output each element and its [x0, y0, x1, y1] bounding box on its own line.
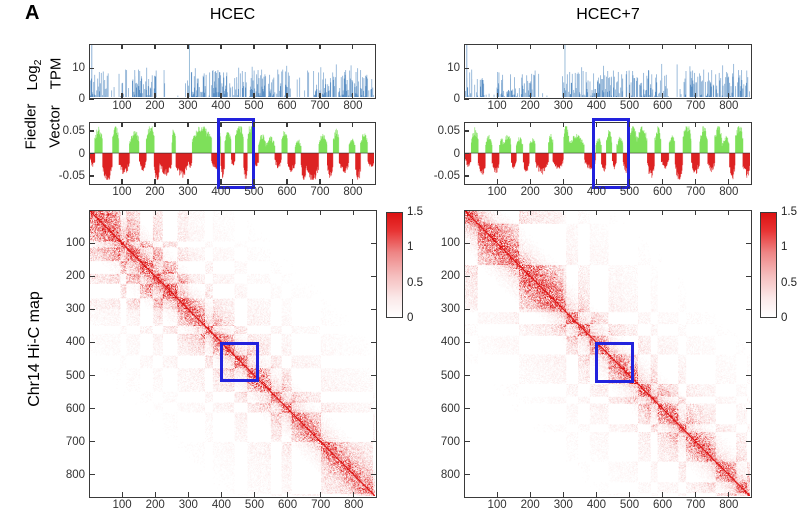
xtick-label-hic: 300	[179, 499, 198, 511]
xtick-label-fiedler: 300	[178, 186, 197, 198]
plot-fiedler-hcec7	[464, 122, 752, 185]
ytick-label-fiedler: -0.05	[420, 170, 460, 182]
ytick-label-hic: 400	[53, 336, 85, 348]
xtick-label-tpm: 200	[145, 100, 164, 112]
colorbar-hcec7	[760, 212, 777, 318]
xtick-label-fiedler: 300	[554, 186, 573, 198]
xtick-label-fiedler: 600	[277, 186, 296, 198]
row-label-vector: Vector	[47, 82, 64, 172]
plot-fiedler-hcec	[89, 122, 376, 185]
xtick-label-tpm: 100	[488, 100, 507, 112]
ytick-label-hic: 800	[428, 469, 460, 481]
xtick-label-tpm: 700	[310, 100, 329, 112]
ytick-label-hic: 800	[53, 469, 85, 481]
xtick-label-fiedler: 600	[653, 186, 672, 198]
xtick-label-tpm: 400	[211, 100, 230, 112]
colorbar-tick-label: 0	[407, 312, 413, 324]
xtick-label-fiedler: 500	[244, 186, 263, 198]
panel-letter-a: A	[25, 2, 39, 25]
ytick-label-hic: 600	[53, 403, 85, 415]
ytick-label-hic: 600	[428, 403, 460, 415]
xtick-label-hic: 100	[113, 499, 132, 511]
column-title-hcec: HCEC	[89, 6, 376, 24]
xtick-label-hic: 500	[245, 499, 264, 511]
xtick-label-fiedler: 800	[343, 186, 362, 198]
xtick-label-hic: 200	[146, 499, 165, 511]
colorbar-tick-label: 0.5	[781, 277, 797, 289]
plot-hic-hcec	[89, 210, 377, 498]
xtick-label-hic: 700	[311, 499, 330, 511]
ytick-label-hic: 500	[428, 370, 460, 382]
colorbar-hcec	[386, 212, 403, 318]
colorbar-tick-label: 1.5	[407, 206, 423, 218]
xtick-label-hic: 400	[587, 499, 606, 511]
xtick-label-tpm: 600	[277, 100, 296, 112]
ytick-label-fiedler: 0	[420, 148, 460, 160]
colorbar-tick-label: 1	[781, 241, 787, 253]
xtick-label-fiedler: 100	[112, 186, 131, 198]
ytick-label-tpm: 0	[432, 93, 460, 105]
xtick-label-fiedler: 100	[488, 186, 507, 198]
xtick-label-hic: 800	[719, 499, 738, 511]
xtick-label-fiedler: 700	[686, 186, 705, 198]
ytick-label-hic: 300	[53, 303, 85, 315]
xtick-label-tpm: 300	[554, 100, 573, 112]
xtick-label-tpm: 500	[244, 100, 263, 112]
xtick-label-fiedler: 400	[211, 186, 230, 198]
colorbar-tick-label: 1	[407, 241, 413, 253]
xtick-label-fiedler: 800	[719, 186, 738, 198]
xtick-label-hic: 100	[488, 499, 507, 511]
xtick-label-fiedler: 200	[521, 186, 540, 198]
ytick-label-hic: 400	[428, 336, 460, 348]
xtick-label-hic: 600	[653, 499, 672, 511]
xtick-label-tpm: 800	[719, 100, 738, 112]
row-label-hic-map: Chr14 Hi-C map	[26, 249, 44, 449]
xtick-label-hic: 500	[620, 499, 639, 511]
xtick-label-fiedler: 700	[310, 186, 329, 198]
ytick-label-hic: 100	[428, 237, 460, 249]
plot-tpm-hcec	[89, 44, 376, 99]
xtick-label-tpm: 200	[521, 100, 540, 112]
xtick-label-tpm: 300	[178, 100, 197, 112]
xtick-label-hic: 300	[554, 499, 573, 511]
ytick-label-hic: 200	[428, 270, 460, 282]
ytick-label-tpm: 10	[432, 62, 460, 74]
xtick-label-hic: 800	[344, 499, 363, 511]
xtick-label-fiedler: 500	[620, 186, 639, 198]
ytick-label-hic: 500	[53, 370, 85, 382]
ytick-label-hic: 700	[53, 436, 85, 448]
ytick-label-hic: 100	[53, 237, 85, 249]
plot-tpm-hcec7	[464, 44, 752, 99]
ytick-label-hic: 300	[428, 303, 460, 315]
colorbar-tick-label: 0.5	[407, 277, 423, 289]
ytick-label-hic: 700	[428, 436, 460, 448]
plot-hic-hcec7	[464, 210, 752, 498]
ytick-label-hic: 200	[53, 270, 85, 282]
xtick-label-tpm: 500	[620, 100, 639, 112]
xtick-label-tpm: 800	[343, 100, 362, 112]
ytick-label-fiedler: -0.05	[45, 170, 85, 182]
xtick-label-fiedler: 200	[145, 186, 164, 198]
colorbar-tick-label: 1.5	[781, 206, 797, 218]
ytick-label-fiedler: 0.05	[420, 125, 460, 137]
xtick-label-hic: 400	[212, 499, 231, 511]
xtick-label-tpm: 600	[653, 100, 672, 112]
xtick-label-hic: 200	[521, 499, 540, 511]
row-label-fiedler: Fiedler	[23, 82, 40, 172]
xtick-label-fiedler: 400	[587, 186, 606, 198]
xtick-label-tpm: 700	[686, 100, 705, 112]
xtick-label-hic: 600	[278, 499, 297, 511]
column-title-hcec7: HCEC+7	[464, 6, 752, 24]
colorbar-tick-label: 0	[781, 312, 787, 324]
xtick-label-tpm: 400	[587, 100, 606, 112]
xtick-label-hic: 700	[686, 499, 705, 511]
xtick-label-tpm: 100	[112, 100, 131, 112]
